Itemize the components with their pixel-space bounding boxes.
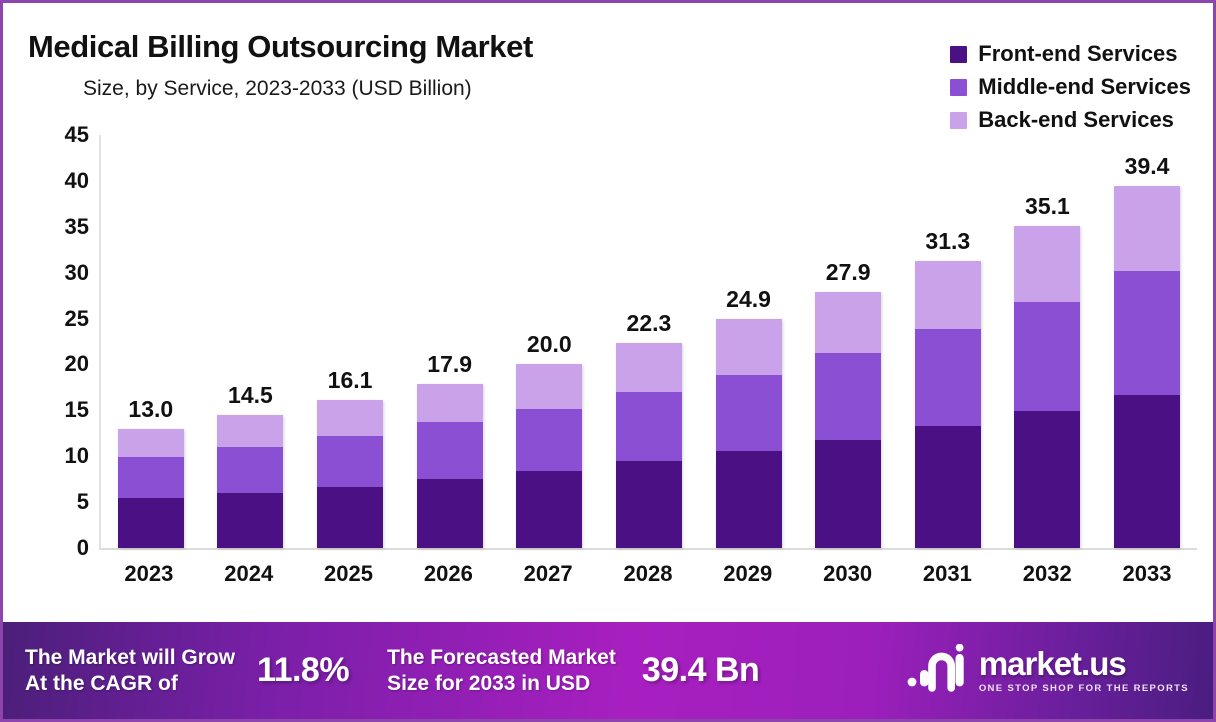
bar-segment-front-end-services[interactable] — [417, 479, 483, 548]
bar-segment-front-end-services[interactable] — [1114, 395, 1180, 548]
y-axis-tick-label: 0 — [77, 537, 89, 559]
y-axis-tick-label: 30 — [65, 262, 89, 284]
bar-segment-front-end-services[interactable] — [1014, 411, 1080, 548]
forecast-caption: The Forecasted Market Size for 2033 in U… — [387, 645, 616, 696]
y-axis-tick-label: 20 — [65, 353, 89, 375]
bar-segment-middle-end-services[interactable] — [716, 375, 782, 451]
bar-segment-front-end-services[interactable] — [815, 440, 881, 548]
bar-segment-front-end-services[interactable] — [217, 493, 283, 548]
bar-segment-back-end-services[interactable] — [317, 400, 383, 436]
bar-segment-back-end-services[interactable] — [616, 343, 682, 392]
y-axis-tick-label: 45 — [65, 124, 89, 146]
bar-value-label: 35.1 — [1025, 195, 1070, 218]
bar-segment-middle-end-services[interactable] — [616, 392, 682, 461]
bar-segment-front-end-services[interactable] — [716, 451, 782, 548]
bar-segment-back-end-services[interactable] — [118, 429, 184, 457]
stacked-bar[interactable] — [815, 292, 881, 548]
stacked-bar[interactable] — [118, 429, 184, 548]
bar-segment-middle-end-services[interactable] — [915, 329, 981, 426]
bar-value-label: 27.9 — [826, 261, 871, 284]
bar-group[interactable]: 35.1 — [1014, 123, 1080, 548]
cagr-caption-line1: The Market will Grow — [25, 645, 235, 671]
bar-value-label: 20.0 — [527, 333, 572, 356]
x-axis-label: 2025 — [316, 561, 382, 587]
bar-segment-back-end-services[interactable] — [516, 364, 582, 408]
bar-group[interactable]: 22.3 — [616, 123, 682, 548]
legend-label: Front-end Services — [978, 43, 1177, 65]
bar-segment-back-end-services[interactable] — [716, 319, 782, 374]
bar-chart-logo-icon — [906, 644, 968, 697]
bar-series-container: 13.014.516.117.920.022.324.927.931.335.1… — [101, 123, 1197, 548]
stacked-bar[interactable] — [1114, 186, 1180, 548]
logo-text: market.us ONE STOP SHOP FOR THE REPORTS — [979, 647, 1189, 694]
bar-value-label: 13.0 — [128, 398, 173, 421]
y-axis-tick-label: 5 — [77, 491, 89, 513]
x-axis-label: 2029 — [715, 561, 781, 587]
y-axis-ticks: 051015202530354045 — [37, 123, 89, 550]
y-axis-tick-label: 40 — [65, 170, 89, 192]
x-axis-label: 2023 — [116, 561, 182, 587]
bar-segment-back-end-services[interactable] — [1114, 186, 1180, 270]
bar-segment-middle-end-services[interactable] — [217, 447, 283, 493]
plot-area: 051015202530354045 13.014.516.117.920.02… — [99, 123, 1197, 550]
forecast-caption-line2: Size for 2033 in USD — [387, 671, 616, 697]
bar-segment-middle-end-services[interactable] — [317, 436, 383, 486]
forecast-caption-line1: The Forecasted Market — [387, 645, 616, 671]
stacked-bar[interactable] — [317, 400, 383, 548]
bar-segment-middle-end-services[interactable] — [417, 422, 483, 479]
bar-value-label: 24.9 — [726, 288, 771, 311]
bar-segment-back-end-services[interactable] — [915, 261, 981, 329]
stacked-bar[interactable] — [616, 343, 682, 548]
bar-segment-back-end-services[interactable] — [217, 415, 283, 447]
bar-group[interactable]: 13.0 — [118, 123, 184, 548]
logo-tagline: ONE STOP SHOP FOR THE REPORTS — [979, 684, 1189, 694]
bar-segment-front-end-services[interactable] — [616, 461, 682, 548]
legend-swatch-middle-end — [950, 79, 967, 96]
infographic-root: Medical Billing Outsourcing Market Size,… — [0, 0, 1216, 722]
x-axis-label: 2028 — [615, 561, 681, 587]
cagr-stat: The Market will Grow At the CAGR of 11.8… — [25, 645, 349, 696]
x-axis-label: 2024 — [216, 561, 282, 587]
market-us-logo[interactable]: market.us ONE STOP SHOP FOR THE REPORTS — [906, 644, 1189, 697]
cagr-value: 11.8% — [257, 651, 349, 690]
bar-segment-front-end-services[interactable] — [516, 471, 582, 548]
y-axis-tick-label: 35 — [65, 216, 89, 238]
x-axis-label: 2030 — [815, 561, 881, 587]
bar-segment-front-end-services[interactable] — [118, 498, 184, 548]
bar-segment-back-end-services[interactable] — [1014, 226, 1080, 302]
forecast-value: 39.4 Bn — [642, 651, 759, 690]
bar-segment-front-end-services[interactable] — [915, 426, 981, 548]
bar-group[interactable]: 14.5 — [217, 123, 283, 548]
bar-segment-back-end-services[interactable] — [417, 384, 483, 423]
stacked-bar[interactable] — [217, 415, 283, 548]
bar-segment-middle-end-services[interactable] — [118, 457, 184, 498]
bar-segment-middle-end-services[interactable] — [815, 353, 881, 439]
x-axis-label: 2027 — [515, 561, 581, 587]
legend-item[interactable]: Middle-end Services — [950, 76, 1191, 98]
y-axis-tick-label: 25 — [65, 308, 89, 330]
x-axis-label: 2026 — [415, 561, 481, 587]
bar-group[interactable]: 20.0 — [516, 123, 582, 548]
chart-subtitle: Size, by Service, 2023-2033 (USD Billion… — [83, 77, 472, 101]
y-axis-tick-label: 15 — [65, 399, 89, 421]
stacked-bar[interactable] — [716, 319, 782, 548]
x-axis-line — [99, 548, 1197, 550]
bar-group[interactable]: 17.9 — [417, 123, 483, 548]
cagr-caption: The Market will Grow At the CAGR of — [25, 645, 235, 696]
stacked-bar[interactable] — [516, 364, 582, 548]
stacked-bar[interactable] — [1014, 226, 1080, 548]
bar-group[interactable]: 16.1 — [317, 123, 383, 548]
x-axis-labels: 2023202420252026202720282029203020312032… — [99, 561, 1197, 587]
bar-segment-back-end-services[interactable] — [815, 292, 881, 353]
y-axis-tick-label: 10 — [65, 445, 89, 467]
bar-group[interactable]: 31.3 — [915, 123, 981, 548]
page-title: Medical Billing Outsourcing Market — [28, 29, 533, 65]
bar-value-label: 16.1 — [328, 369, 373, 392]
legend-item[interactable]: Front-end Services — [950, 43, 1177, 65]
forecast-stat: The Forecasted Market Size for 2033 in U… — [387, 645, 759, 696]
footer-banner: The Market will Grow At the CAGR of 11.8… — [3, 622, 1213, 719]
bar-group[interactable]: 24.9 — [716, 123, 782, 548]
cagr-caption-line2: At the CAGR of — [25, 671, 235, 697]
stacked-bar[interactable] — [915, 261, 981, 548]
bar-segment-middle-end-services[interactable] — [1114, 271, 1180, 395]
bar-value-label: 14.5 — [228, 384, 273, 407]
x-axis-label: 2033 — [1114, 561, 1180, 587]
bar-value-label: 17.9 — [427, 353, 472, 376]
bar-value-label: 39.4 — [1125, 155, 1170, 178]
x-axis-label: 2032 — [1014, 561, 1080, 587]
x-axis-label: 2031 — [914, 561, 980, 587]
bar-value-label: 31.3 — [925, 230, 970, 253]
bar-group[interactable]: 39.4 — [1114, 123, 1180, 548]
legend-swatch-front-end — [950, 46, 967, 63]
bar-segment-middle-end-services[interactable] — [1014, 302, 1080, 411]
bar-group[interactable]: 27.9 — [815, 123, 881, 548]
chart-legend: Front-end ServicesMiddle-end ServicesBac… — [950, 43, 1191, 131]
bar-segment-middle-end-services[interactable] — [516, 409, 582, 471]
logo-wordmark: market.us — [979, 647, 1126, 680]
bar-value-label: 22.3 — [627, 312, 672, 335]
bar-segment-front-end-services[interactable] — [317, 487, 383, 548]
stacked-bar[interactable] — [417, 384, 483, 548]
legend-label: Middle-end Services — [978, 76, 1191, 98]
